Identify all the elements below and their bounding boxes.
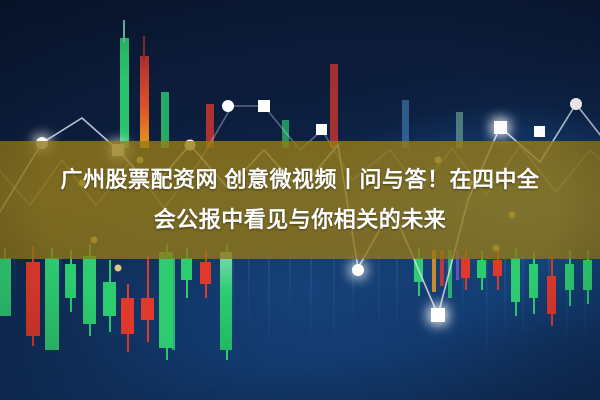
banner-image: 广州股票配资网 创意微视频丨问与答！在四中全 会公报中看见与你相关的未来 — [0, 0, 600, 400]
headline-line-1: 广州股票配资网 创意微视频丨问与答！在四中全 — [60, 160, 539, 200]
upper-candles — [120, 20, 463, 148]
lower-candles — [0, 244, 592, 360]
headline-line-2: 会公报中看见与你相关的未来 — [154, 200, 447, 240]
headline-overlay-band: 广州股票配资网 创意微视频丨问与答！在四中全 会公报中看见与你相关的未来 — [0, 141, 600, 259]
